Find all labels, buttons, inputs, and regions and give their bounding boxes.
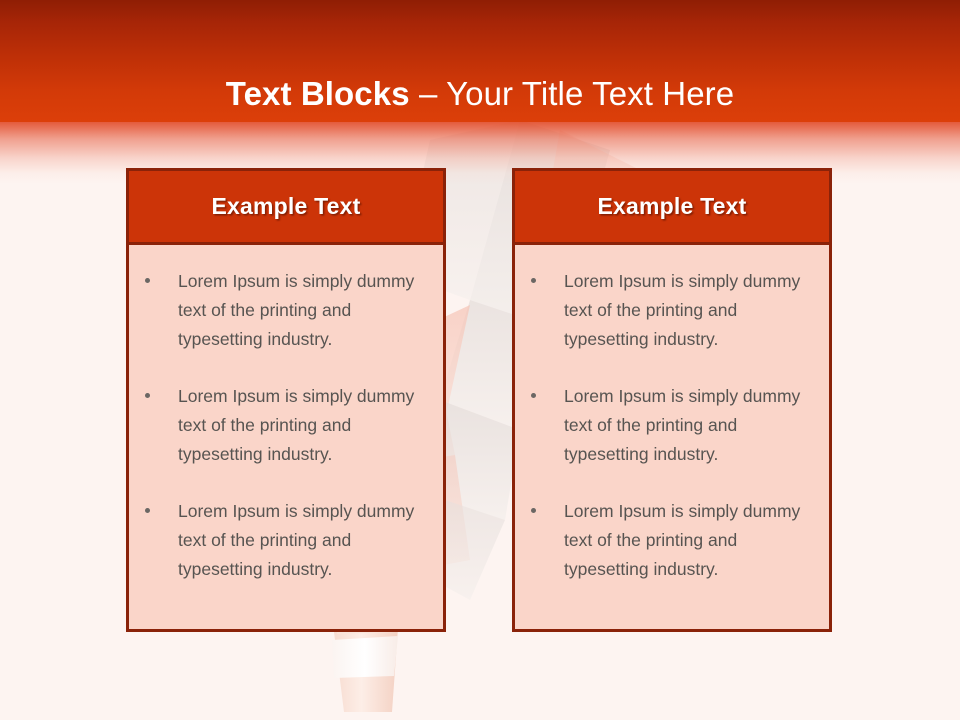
list-item: Lorem Ipsum is simply dummy text of the … (137, 382, 429, 469)
text-block-left-body: Lorem Ipsum is simply dummy text of the … (129, 245, 443, 584)
text-block-right-body: Lorem Ipsum is simply dummy text of the … (515, 245, 829, 584)
text-block-left[interactable]: Example Text Lorem Ipsum is simply dummy… (126, 168, 446, 632)
list-item: Lorem Ipsum is simply dummy text of the … (137, 497, 429, 584)
bullet-dot-icon (145, 508, 150, 513)
content-blocks: Example Text Lorem Ipsum is simply dummy… (0, 0, 960, 720)
list-item: Lorem Ipsum is simply dummy text of the … (137, 267, 429, 354)
list-item: Lorem Ipsum is simply dummy text of the … (523, 497, 815, 584)
list-item: Lorem Ipsum is simply dummy text of the … (523, 382, 815, 469)
bullet-dot-icon (145, 278, 150, 283)
list-item-text: Lorem Ipsum is simply dummy text of the … (564, 271, 800, 349)
list-item-text: Lorem Ipsum is simply dummy text of the … (178, 501, 414, 579)
bullet-dot-icon (531, 393, 536, 398)
list-item: Lorem Ipsum is simply dummy text of the … (523, 267, 815, 354)
text-block-left-header: Example Text (129, 171, 443, 245)
bullet-dot-icon (531, 278, 536, 283)
list-item-text: Lorem Ipsum is simply dummy text of the … (564, 501, 800, 579)
bullet-dot-icon (531, 508, 536, 513)
bullet-dot-icon (145, 393, 150, 398)
bullet-list-right: Lorem Ipsum is simply dummy text of the … (523, 267, 815, 584)
slide-canvas: Text Blocks – Your Title Text Here Examp… (0, 0, 960, 720)
list-item-text: Lorem Ipsum is simply dummy text of the … (178, 386, 414, 464)
text-block-right-header-label: Example Text (598, 193, 747, 220)
list-item-text: Lorem Ipsum is simply dummy text of the … (178, 271, 414, 349)
text-block-right[interactable]: Example Text Lorem Ipsum is simply dummy… (512, 168, 832, 632)
text-block-left-header-label: Example Text (212, 193, 361, 220)
text-block-right-header: Example Text (515, 171, 829, 245)
bullet-list-left: Lorem Ipsum is simply dummy text of the … (137, 267, 429, 584)
list-item-text: Lorem Ipsum is simply dummy text of the … (564, 386, 800, 464)
